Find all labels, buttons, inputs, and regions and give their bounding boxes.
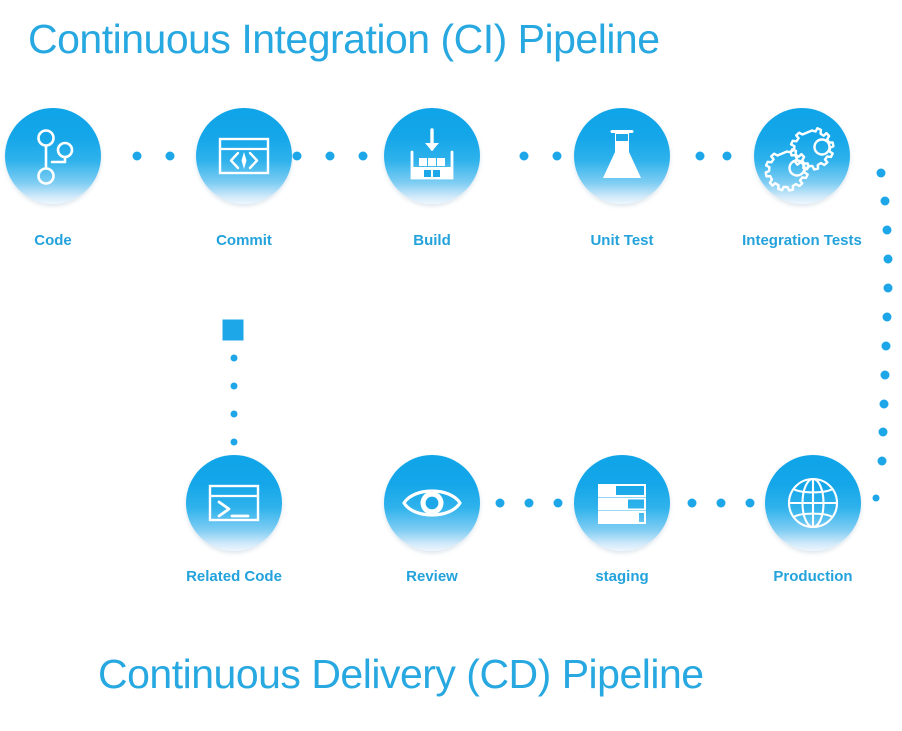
connector-dot [884,255,893,264]
connector-dot [553,152,562,161]
stage-node-related-code[interactable] [186,455,282,551]
stage-node-build[interactable] [384,108,480,204]
gears-icon [754,108,850,204]
build-bin-icon [384,108,480,204]
stage-label-code: Code [34,232,72,249]
connector-dot [877,169,886,178]
code-window-icon [196,108,292,204]
connector-dot [881,197,890,206]
connector-dot [880,400,889,409]
stage-label-staging: staging [595,568,648,585]
page-title-ci: Continuous Integration (CI) Pipeline [28,16,660,63]
connector-dot [884,284,893,293]
stage-node-production[interactable] [765,455,861,551]
stage-label-production: Production [773,568,852,585]
connector-dot [520,152,529,161]
page-title-cd: Continuous Delivery (CD) Pipeline [98,651,704,698]
connector-dot [882,342,891,351]
stage-label-build: Build [413,232,451,249]
stage-label-integration-tests: Integration Tests [742,232,862,249]
stage-label-review: Review [406,568,458,585]
connector-dot [231,383,238,390]
connector-dot [883,226,892,235]
connector-dot [496,499,505,508]
connector-dot [723,152,732,161]
connector-dot [878,457,887,466]
connector-dot [231,355,238,362]
stage-node-commit[interactable] [196,108,292,204]
stage-node-unit-test[interactable] [574,108,670,204]
connector-dot [696,152,705,161]
slider-bars-icon [574,455,670,551]
connector-dot [879,428,888,437]
stage-node-integration-tests[interactable] [754,108,850,204]
stage-node-code[interactable] [5,108,101,204]
connector-dot [166,152,175,161]
connector-dot [881,371,890,380]
stage-node-review[interactable] [384,455,480,551]
connector-dot [326,152,335,161]
connector-dot [873,495,880,502]
connector-dot [231,439,238,446]
stage-label-related-code: Related Code [186,568,282,585]
connector-dot [717,499,726,508]
connector-square-marker [223,320,244,341]
stage-label-commit: Commit [216,232,272,249]
ci-cd-pipeline-diagram: Continuous Integration (CI) Pipeline Con… [0,0,902,731]
connector-dot [883,313,892,322]
globe-icon [765,455,861,551]
connector-dot [525,499,534,508]
connector-dot [359,152,368,161]
flask-icon [574,108,670,204]
stage-label-unit-test: Unit Test [590,232,653,249]
stage-node-staging[interactable] [574,455,670,551]
connector-dot [554,499,563,508]
connector-dot [293,152,302,161]
eye-icon [384,455,480,551]
connector-dot [231,411,238,418]
connector-dot [688,499,697,508]
connector-dot [133,152,142,161]
connector-dot [746,499,755,508]
terminal-icon [186,455,282,551]
git-branch-icon [5,108,101,204]
